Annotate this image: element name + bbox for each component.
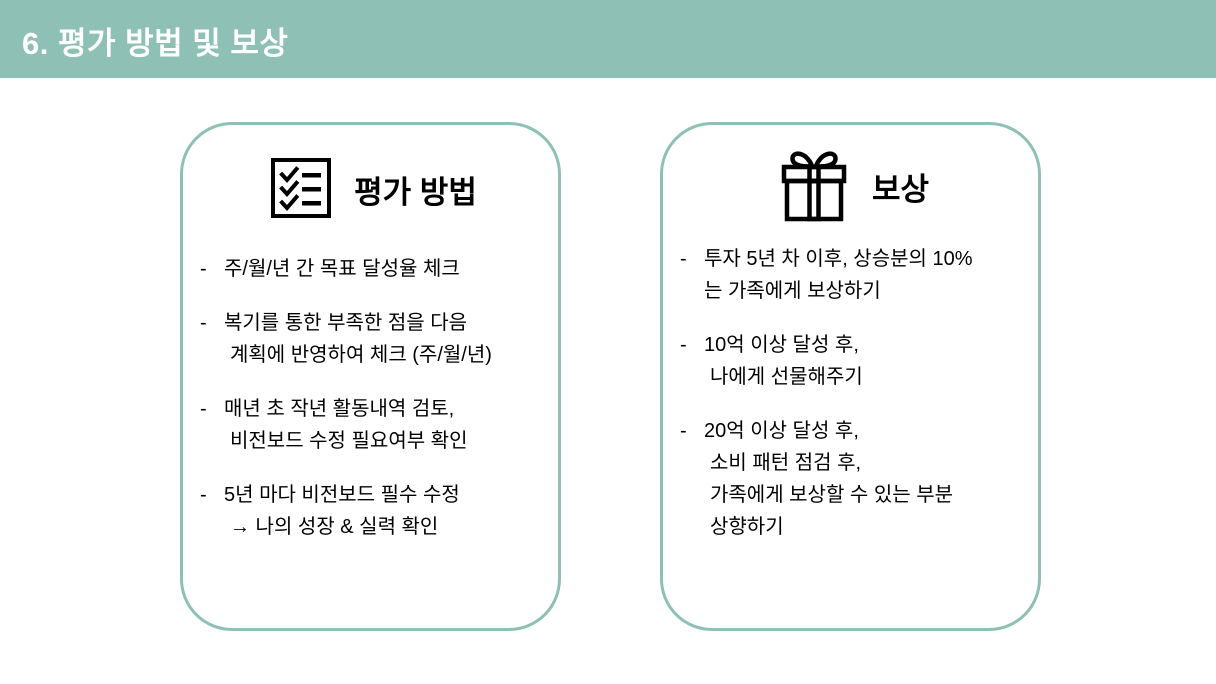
bullet-line: 주/월/년 간 목표 달성율 체크 (224, 253, 555, 285)
bullet-text: 복기를 통한 부족한 점을 다음 계획에 반영하여 체크 (주/월/년) (224, 307, 555, 371)
bullet-text: 20억 이상 달성 후, 소비 패턴 점검 후, 가족에게 보상할 수 있는 부… (704, 415, 1035, 543)
bullet-text: 주/월/년 간 목표 달성율 체크 (224, 253, 555, 285)
header-band: 6. 평가 방법 및 보상 (0, 0, 1216, 78)
bullet-text: 투자 5년 차 이후, 상승분의 10% 는 가족에게 보상하기 (704, 243, 1035, 307)
bullet-marker: - (679, 329, 704, 361)
bullet-marker: - (679, 415, 704, 447)
bullet-marker: - (199, 253, 224, 285)
card-evaluation: 평가 방법 - 주/월/년 간 목표 달성율 체크 - 복기를 통한 부족한 점… (180, 122, 561, 631)
bullet-line: 10억 이상 달성 후, (704, 329, 1035, 361)
bullet-text: 10억 이상 달성 후, 나에게 선물해주기 (704, 329, 1035, 393)
bullet-marker: - (199, 479, 224, 511)
page-title: 6. 평가 방법 및 보상 (22, 18, 288, 63)
card-reward-head: 보상 (663, 147, 1044, 228)
bullet-line: 비전보드 수정 필요여부 확인 (224, 425, 555, 457)
bullet-marker: - (199, 307, 224, 339)
bullet-line: 소비 패턴 점검 후, (704, 447, 1035, 479)
bullet-line: 20억 이상 달성 후, (704, 415, 1035, 447)
bullet-line: 상향하기 (704, 511, 1035, 543)
list-item: - 10억 이상 달성 후, 나에게 선물해주기 (679, 329, 1035, 393)
list-item: - 주/월/년 간 목표 달성율 체크 (199, 253, 555, 285)
bullet-text: 매년 초 작년 활동내역 검토, 비전보드 수정 필요여부 확인 (224, 393, 555, 457)
bullet-line: 매년 초 작년 활동내역 검토, (224, 393, 555, 425)
list-item: - 매년 초 작년 활동내역 검토, 비전보드 수정 필요여부 확인 (199, 393, 555, 457)
bullet-line: → 나의 성장 & 실력 확인 (224, 511, 555, 543)
bullet-marker: - (679, 243, 704, 275)
gift-icon (778, 147, 850, 228)
bullet-line: 5년 마다 비전보드 필수 수정 (224, 479, 555, 511)
list-item: - 5년 마다 비전보드 필수 수정 → 나의 성장 & 실력 확인 (199, 479, 555, 543)
card-reward-title: 보상 (872, 170, 929, 205)
bullet-line: 계획에 반영하여 체크 (주/월/년) (224, 339, 555, 371)
card-reward: 보상 - 투자 5년 차 이후, 상승분의 10% 는 가족에게 보상하기 - … (660, 122, 1041, 631)
card-reward-bullets: - 투자 5년 차 이후, 상승분의 10% 는 가족에게 보상하기 - 10억… (679, 243, 1035, 565)
bullet-line: 복기를 통한 부족한 점을 다음 (224, 307, 555, 339)
bullet-marker: - (199, 393, 224, 425)
bullet-line: 투자 5년 차 이후, 상승분의 10% (704, 243, 1035, 275)
list-item: - 투자 5년 차 이후, 상승분의 10% 는 가족에게 보상하기 (679, 243, 1035, 307)
card-evaluation-head: 평가 방법 (183, 157, 564, 224)
bullet-text: 5년 마다 비전보드 필수 수정 → 나의 성장 & 실력 확인 (224, 479, 555, 543)
bullet-line: 가족에게 보상할 수 있는 부분 (704, 479, 1035, 511)
checklist-icon (270, 157, 332, 224)
card-evaluation-title: 평가 방법 (354, 173, 477, 208)
bullet-line: 나에게 선물해주기 (704, 361, 1035, 393)
list-item: - 20억 이상 달성 후, 소비 패턴 점검 후, 가족에게 보상할 수 있는… (679, 415, 1035, 543)
card-evaluation-bullets: - 주/월/년 간 목표 달성율 체크 - 복기를 통한 부족한 점을 다음 계… (199, 253, 555, 565)
bullet-line: 는 가족에게 보상하기 (704, 275, 1035, 307)
list-item: - 복기를 통한 부족한 점을 다음 계획에 반영하여 체크 (주/월/년) (199, 307, 555, 371)
